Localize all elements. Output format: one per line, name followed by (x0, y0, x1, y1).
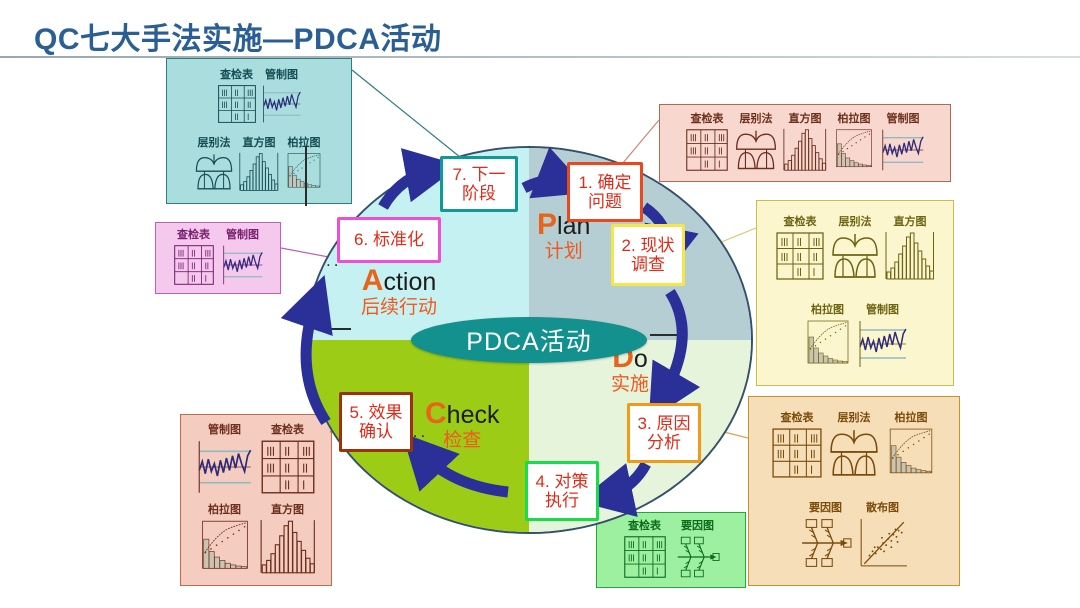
tool-caption: 查检表 (177, 229, 210, 242)
phase-action: Action 后续行动 (361, 266, 437, 317)
card-standardize: 查检表管制图 (155, 222, 281, 294)
step-label-line2: 分析 (647, 433, 681, 452)
tool-art-查检表 (771, 427, 823, 479)
phase-plan-cap: P (537, 208, 557, 241)
step-label-line2: 调查 (631, 255, 665, 274)
tool-caption: 柏拉图 (838, 113, 871, 126)
tool-art-直方图 (783, 128, 827, 172)
tool-cell: 层别法 (828, 412, 880, 479)
step-label-line2: 确认 (359, 422, 393, 441)
tool-cell: 层别法 (830, 216, 880, 281)
tool-cell: 直方图 (885, 216, 935, 281)
tool-cell: 查检表 (775, 216, 825, 281)
tool-caption: 查检表 (271, 424, 304, 437)
phase-action-cn: 后续行动 (361, 298, 437, 317)
tool-cell: 查检表 (771, 412, 823, 479)
tool-caption: 要因图 (809, 502, 842, 515)
phase-check: Check 检查 (425, 399, 499, 450)
step-label-line1: 4. 对策 (536, 472, 589, 491)
slide-canvas: QC七大手法实施—PDCA活动 查检表管制图层别法直方图柏拉图查检表层别法直方图… (0, 0, 1080, 608)
tool-cell: 要因图 (800, 502, 852, 569)
tool-art-查检表 (217, 84, 257, 124)
step-box-step6[interactable]: 6. 标准化 (337, 217, 441, 263)
tool-caption: 柏拉图 (811, 304, 844, 317)
tool-cell: 直方图 (239, 137, 279, 192)
tool-art-要因图 (674, 535, 722, 579)
page-title: QC七大手法实施—PDCA活动 (34, 14, 442, 58)
tool-art-柏拉图 (885, 427, 937, 479)
tool-cell: 柏拉图 (803, 304, 853, 369)
step-box-step1[interactable]: 1. 确定问题 (567, 162, 643, 222)
tool-art-直方图 (885, 231, 935, 281)
tool-art-管制图 (262, 84, 302, 124)
tool-art-查检表 (621, 535, 669, 579)
step-box-step4[interactable]: 4. 对策执行 (525, 461, 599, 521)
tool-caption: 柏拉图 (895, 412, 928, 425)
step-box-step3[interactable]: 3. 原因分析 (627, 403, 701, 463)
tool-row: 要因图散布图 (754, 502, 954, 569)
tool-art-柏拉图 (803, 319, 853, 369)
tool-cell: 管制图 (196, 424, 254, 495)
step-box-step7[interactable]: 7. 下一阶段 (440, 156, 518, 212)
step-label-line1: 2. 现状 (622, 236, 675, 255)
tool-caption: 层别法 (198, 137, 231, 150)
tool-cell: 管制图 (221, 229, 265, 286)
tool-caption: 管制图 (208, 424, 241, 437)
step-label-line1: 7. 下一 (453, 165, 506, 184)
tool-art-要因图 (800, 517, 852, 569)
step-box-step5[interactable]: 5. 效果确认 (339, 392, 413, 452)
phase-check-cn: 检查 (425, 431, 499, 450)
tool-cell: 管制图 (881, 113, 925, 172)
tool-art-管制图 (196, 439, 254, 495)
step-label-line1: 3. 原因 (638, 414, 691, 433)
card-current-survey: 查检表层别法直方图柏拉图管制图 (756, 200, 954, 386)
title-divider (0, 56, 1080, 58)
tool-cell: 柏拉图 (885, 412, 937, 479)
tool-cell: 层别法 (194, 137, 234, 192)
phase-do-cn: 实施 (611, 375, 649, 394)
tool-art-查检表 (775, 231, 825, 281)
step-label-line2: 问题 (588, 192, 622, 211)
tool-caption: 直方图 (789, 113, 822, 126)
tool-caption: 直方图 (243, 137, 276, 150)
tool-caption: 管制图 (866, 304, 899, 317)
tool-caption: 层别法 (838, 412, 871, 425)
phase-check-cap: C (425, 397, 447, 430)
tool-caption: 柏拉图 (208, 504, 241, 517)
tool-art-层别法 (830, 231, 880, 281)
tool-art-散布图 (857, 517, 909, 569)
tick-action (317, 328, 351, 330)
phase-action-cap: A (362, 264, 384, 297)
tool-caption: 管制图 (226, 229, 259, 242)
pdca-center-label: PDCA活动 (411, 317, 647, 363)
tool-art-直方图 (239, 152, 279, 192)
tool-caption: 查检表 (220, 69, 253, 82)
tool-caption: 查检表 (691, 113, 724, 126)
phase-check-en: Check (425, 399, 499, 430)
tool-cell: 柏拉图 (832, 113, 876, 172)
tool-row: 柏拉图管制图 (762, 304, 948, 369)
tool-art-查检表 (172, 244, 216, 286)
tool-row: 查检表层别法直方图 (762, 216, 948, 281)
tool-caption: 层别法 (839, 216, 872, 229)
tick-do (650, 334, 684, 336)
tool-art-管制图 (881, 128, 925, 172)
step-label-line1: 6. 标准化 (354, 230, 424, 249)
tool-cell: 散布图 (857, 502, 909, 569)
phase-action-rest: ction (383, 268, 436, 296)
tool-art-管制图 (858, 319, 908, 369)
tool-caption: 查检表 (781, 412, 814, 425)
tool-caption: 直方图 (894, 216, 927, 229)
tool-cell: 查检表 (172, 229, 216, 286)
phase-action-en: Action (361, 266, 437, 297)
tool-cell: 查检表 (217, 69, 257, 124)
tool-art-管制图 (221, 244, 265, 286)
tool-cell: 直方图 (783, 113, 827, 172)
tool-row: 查检表管制图 (172, 69, 346, 124)
tool-caption: 管制图 (887, 113, 920, 126)
tool-art-层别法 (194, 152, 234, 192)
step-label-line2: 阶段 (462, 184, 496, 203)
tool-art-柏拉图 (832, 128, 876, 172)
tool-caption: 管制图 (265, 69, 298, 82)
phase-check-rest: heck (447, 401, 500, 429)
step-label-line1: 1. 确定 (579, 173, 632, 192)
card-cause-analysis: 查检表层别法柏拉图要因图散布图 (748, 396, 960, 586)
phase-plan-cn: 计划 (537, 242, 590, 261)
step-label-line2: 执行 (545, 491, 579, 510)
step-label-line1: 5. 效果 (350, 403, 403, 422)
step-box-step2[interactable]: 2. 现状调查 (611, 224, 685, 286)
tool-art-层别法 (828, 427, 880, 479)
tool-cell: 柏拉图 (196, 504, 254, 575)
tool-caption: 直方图 (271, 504, 304, 517)
tool-row: 查检表管制图 (161, 229, 275, 286)
tool-caption: 层别法 (740, 113, 773, 126)
tool-caption: 散布图 (866, 502, 899, 515)
tool-row: 查检表层别法柏拉图 (754, 412, 954, 479)
tool-caption: 查检表 (784, 216, 817, 229)
tool-art-柏拉图 (196, 519, 254, 575)
tool-cell: 管制图 (262, 69, 302, 124)
tool-cell: 管制图 (858, 304, 908, 369)
